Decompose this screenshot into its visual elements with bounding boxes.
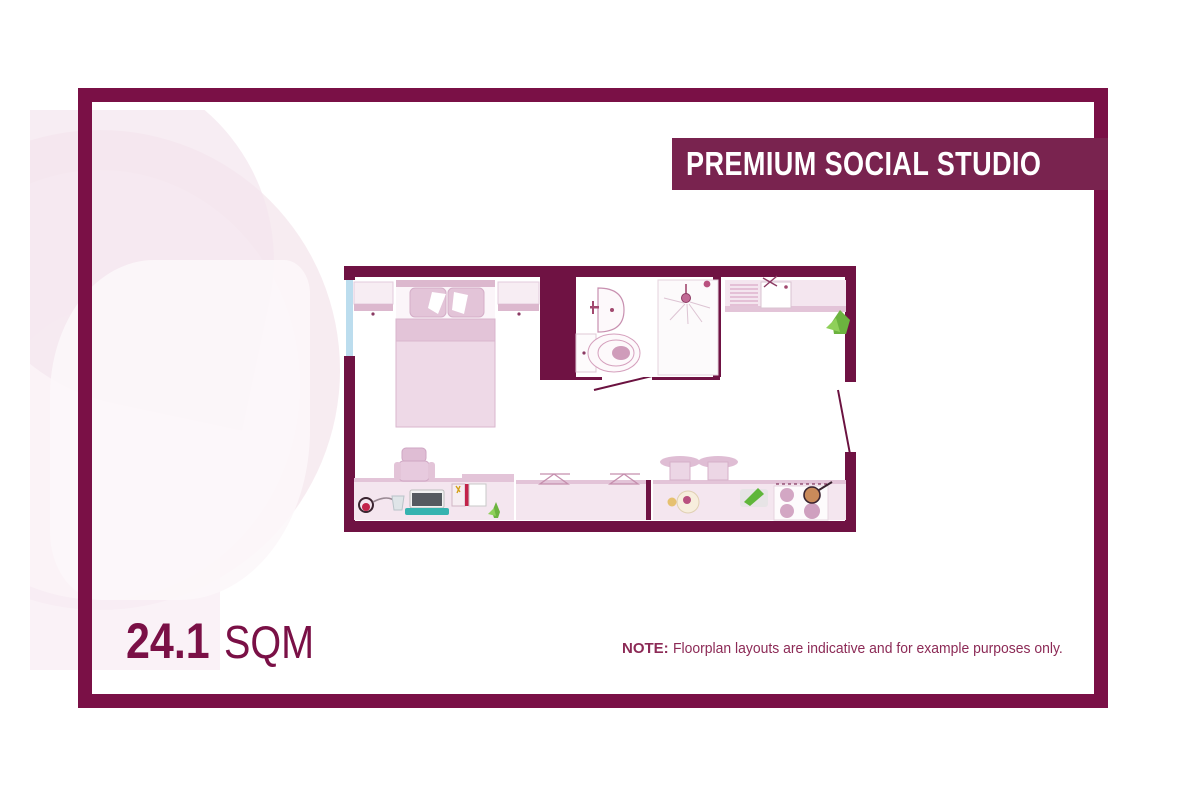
book-right	[469, 484, 486, 506]
headboard-panel	[396, 280, 495, 287]
floor-area-unit: SQM	[224, 615, 314, 669]
bar-stool-1	[670, 462, 690, 480]
shower-control	[704, 281, 711, 288]
wall-bottom	[344, 521, 856, 532]
page-title: PREMIUM SOCIAL STUDIO	[686, 145, 1041, 183]
appliance-knob	[784, 285, 788, 289]
window	[346, 280, 353, 356]
wall-top	[344, 266, 856, 277]
bed-top-band	[396, 319, 495, 341]
book-spine	[465, 484, 469, 506]
bed	[396, 341, 495, 427]
wall-kitchen-divider	[646, 480, 651, 520]
shelf-knob-left	[371, 312, 374, 315]
wall-left-lower	[344, 356, 355, 532]
frying-pan	[804, 487, 820, 503]
bar-stool-2	[708, 462, 728, 480]
note-text: Floorplan layouts are indicative and for…	[673, 640, 1063, 657]
cup	[392, 496, 404, 510]
desk-return	[462, 474, 514, 482]
toilet-flush	[582, 351, 585, 354]
toilet-bowl	[612, 346, 630, 360]
laptop-display	[412, 493, 442, 506]
plate-food	[683, 496, 691, 504]
burner-3	[780, 504, 794, 518]
floorplan-drawing	[340, 262, 860, 542]
sink-tap	[590, 306, 599, 309]
title-banner: PREMIUM SOCIAL STUDIO	[672, 138, 1108, 190]
bedside-shelf-left	[354, 282, 393, 304]
bedside-shelf-right	[498, 282, 539, 304]
kitchen-counter-edge	[653, 480, 846, 484]
burner-4	[804, 503, 820, 519]
note-label: NOTE:	[622, 640, 669, 657]
floorplan-svg	[340, 262, 860, 542]
sink-tap-body	[592, 301, 594, 314]
chair-arm-left	[394, 462, 401, 480]
plate-side	[668, 498, 677, 507]
wall-left-upper	[344, 266, 355, 280]
shelf-knob-right	[517, 312, 520, 315]
laptop-base	[405, 508, 449, 515]
headphones-cup	[362, 503, 370, 511]
burner-1	[780, 488, 794, 502]
desk-chair	[399, 461, 429, 481]
showerhead	[682, 294, 691, 303]
bedside-shelf-right-edge	[498, 304, 539, 311]
desk-chair-back	[402, 448, 426, 462]
floor-area: 24.1 SQM	[126, 612, 329, 670]
bedside-shelf-left-edge	[354, 304, 393, 311]
book-left	[452, 484, 465, 506]
wall-right-lower	[845, 452, 856, 532]
sink-drain	[610, 308, 614, 312]
disclaimer-note: NOTE: Floorplan layouts are indicative a…	[622, 640, 1092, 657]
chair-arm-right	[428, 462, 435, 480]
wardrobe	[516, 480, 646, 520]
floor-area-value: 24.1	[126, 612, 210, 670]
